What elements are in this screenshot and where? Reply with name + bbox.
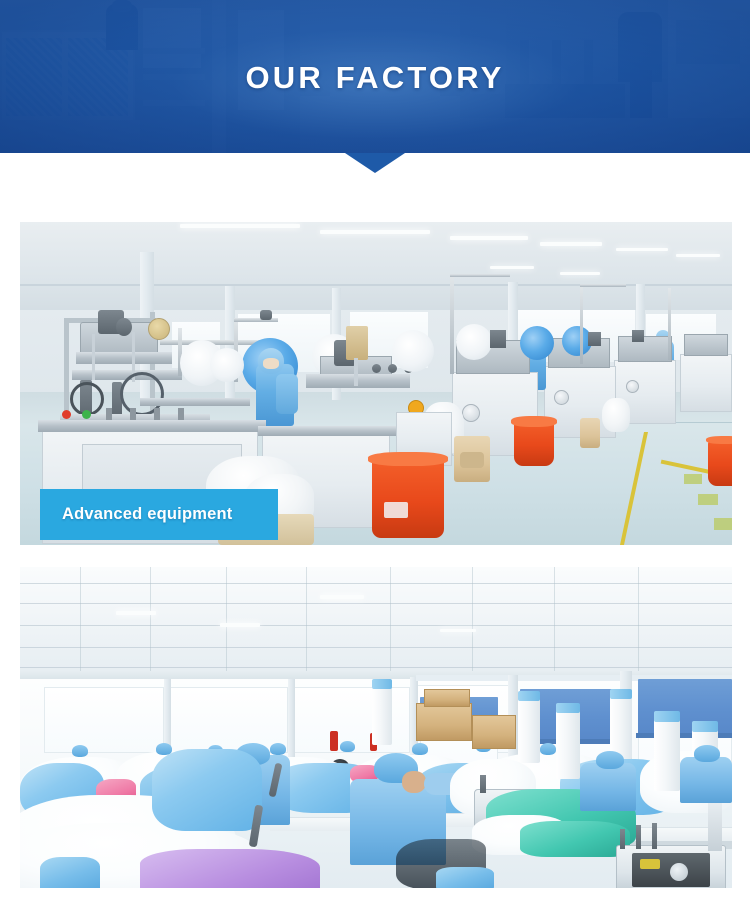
badge-advanced-equipment-label: Advanced equipment <box>62 505 232 524</box>
factory-workers-photo: Skillful workers <box>20 567 732 888</box>
banner-header: OUR FACTORY <box>0 0 750 153</box>
factory-page: OUR FACTORY <box>0 0 750 911</box>
page-title: OUR FACTORY <box>0 60 750 96</box>
ceiling <box>20 222 732 314</box>
chevron-down-icon <box>345 153 405 173</box>
badge-advanced-equipment: Advanced equipment <box>40 489 278 540</box>
factory-equipment-photo: Advanced equipment <box>20 222 732 545</box>
